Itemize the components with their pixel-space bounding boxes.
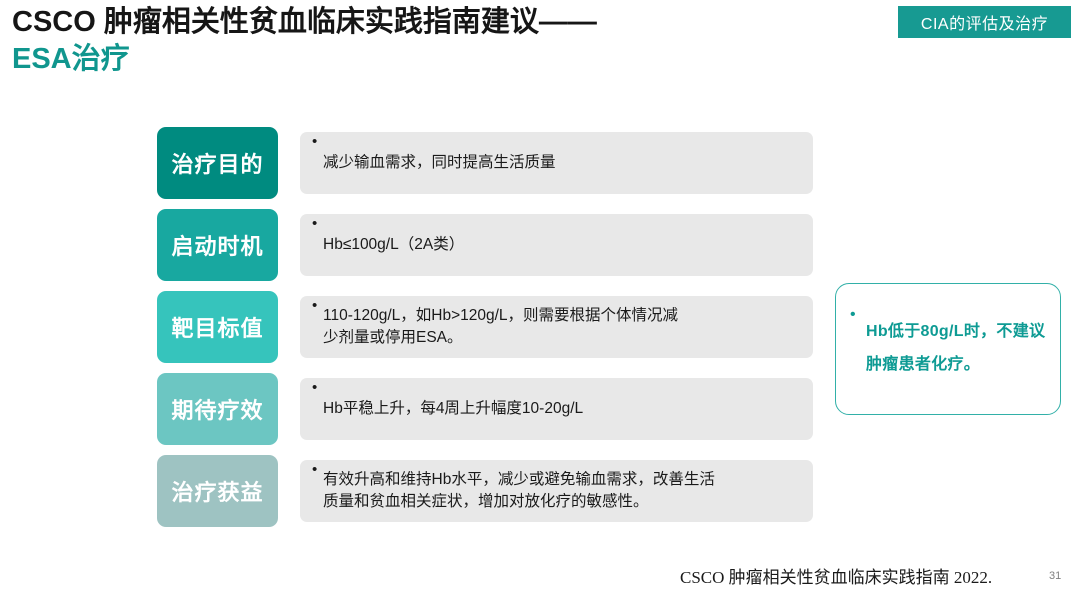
page-title: CSCO 肿瘤相关性贫血临床实践指南建议—— ESA治疗 xyxy=(12,4,772,78)
row-label-text: 靶目标值 xyxy=(171,311,263,343)
row-content-text: 有效升高和维持Hb水平，减少或避免输血需求，改善生活 质量和贫血相关症状，增加对… xyxy=(323,469,799,514)
row-label-expected-effect: 期待疗效 xyxy=(157,373,278,445)
row-content-panel: • 110-120g/L，如Hb>120g/L，则需要根据个体情况减 少剂量或停… xyxy=(300,296,813,358)
callout-box: • Hb低于80g/L时，不建议肿瘤患者化疗。 xyxy=(835,283,1061,415)
guideline-row: 靶目标值 • 110-120g/L，如Hb>120g/L，则需要根据个体情况减 … xyxy=(157,291,813,363)
row-content-text: 减少输血需求，同时提高生活质量 xyxy=(323,152,799,174)
page-title-line-2: ESA治疗 xyxy=(12,41,772,78)
bullet-icon: • xyxy=(312,134,323,149)
guideline-row: 治疗目的 • 减少输血需求，同时提高生活质量 xyxy=(157,127,813,199)
guideline-row: 治疗获益 • 有效升高和维持Hb水平，减少或避免输血需求，改善生活 质量和贫血相… xyxy=(157,455,813,527)
row-content-text: Hb≤100g/L（2A类） xyxy=(323,234,799,256)
row-content-panel: • 有效升高和维持Hb水平，减少或避免输血需求，改善生活 质量和贫血相关症状，增… xyxy=(300,460,813,522)
row-label-treatment-goal: 治疗目的 xyxy=(157,127,278,199)
bullet-icon: • xyxy=(312,462,323,477)
bullet-icon: • xyxy=(850,306,866,324)
guideline-row: 启动时机 • Hb≤100g/L（2A类） xyxy=(157,209,813,281)
page-number: 31 xyxy=(1049,570,1061,582)
row-content-text: Hb平稳上升，每4周上升幅度10-20g/L xyxy=(323,398,799,420)
footer-source-citation: CSCO 肿瘤相关性贫血临床实践指南 2022. xyxy=(680,563,992,588)
row-label-text: 启动时机 xyxy=(171,229,263,261)
guideline-row: 期待疗效 • Hb平稳上升，每4周上升幅度10-20g/L xyxy=(157,373,813,445)
guideline-rows: 治疗目的 • 减少输血需求，同时提高生活质量 启动时机 • Hb≤100g/L（… xyxy=(157,127,813,537)
callout-text: Hb低于80g/L时，不建议肿瘤患者化疗。 xyxy=(866,316,1050,382)
row-label-target-value: 靶目标值 xyxy=(157,291,278,363)
section-badge-label: CIA的评估及治疗 xyxy=(921,10,1048,34)
row-label-text: 期待疗效 xyxy=(171,393,263,425)
row-content-text: 110-120g/L，如Hb>120g/L，则需要根据个体情况减 少剂量或停用E… xyxy=(323,305,799,350)
row-content-panel: • Hb≤100g/L（2A类） xyxy=(300,214,813,276)
row-label-treatment-benefit: 治疗获益 xyxy=(157,455,278,527)
row-label-text: 治疗目的 xyxy=(171,147,263,179)
row-content-panel: • 减少输血需求，同时提高生活质量 xyxy=(300,132,813,194)
row-label-text: 治疗获益 xyxy=(171,475,263,507)
row-content-panel: • Hb平稳上升，每4周上升幅度10-20g/L xyxy=(300,378,813,440)
bullet-icon: • xyxy=(312,216,323,231)
row-label-start-timing: 启动时机 xyxy=(157,209,278,281)
section-badge: CIA的评估及治疗 xyxy=(898,6,1071,38)
page-title-line-1: CSCO 肿瘤相关性贫血临床实践指南建议—— xyxy=(12,4,772,41)
bullet-icon: • xyxy=(312,380,323,395)
bullet-icon: • xyxy=(312,298,323,313)
